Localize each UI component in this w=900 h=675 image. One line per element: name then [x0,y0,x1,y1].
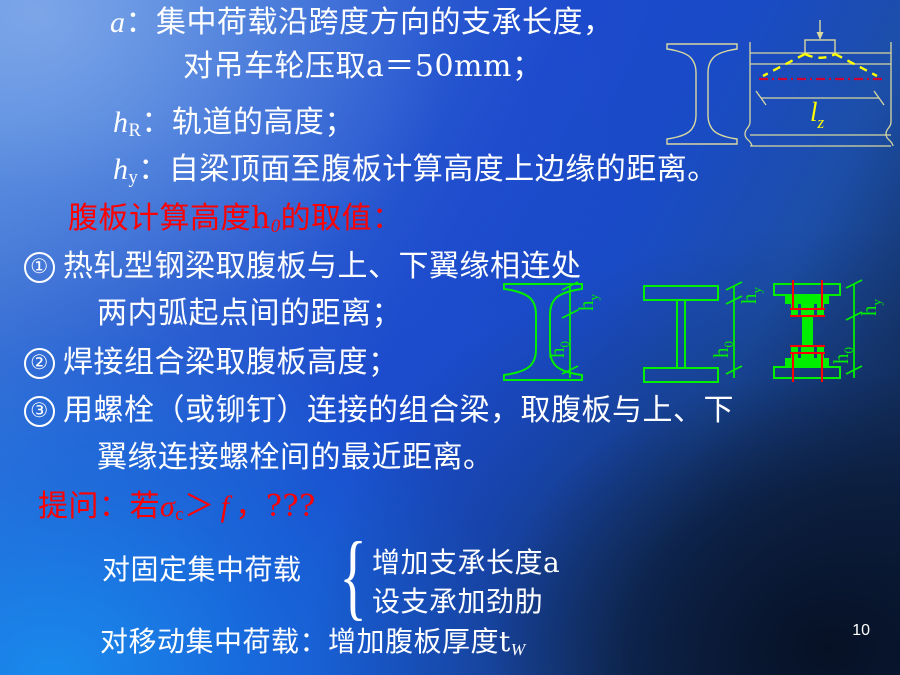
moving-load-label: 对移动集中荷载： [100,625,328,658]
welded-girder-profile-icon [644,286,718,382]
numbered-item-2-line-1: 焊接组合梁取腹板高度； [63,345,399,380]
question-strength: f [221,490,230,523]
fixed-load-option-2: 设支承加劲肋 [372,588,543,616]
section-heading-prefix: 腹板计算高度h [68,201,271,236]
symbol-h-2: h [113,153,129,186]
numbered-item-3-line-2-wrap: 翼缘连接螺栓间的最近距离。 [97,443,494,473]
symbol-h-subscript-y: y [129,167,139,188]
case3-h0-subscript: 0 [841,347,856,354]
circled-number-1-icon: ① [24,252,55,283]
numbered-item-3-line-1: 用螺栓（或铆钉）连接的组合梁，取腹板与上、下 [63,393,734,428]
definition-colon-a: ： [126,6,157,39]
symbol-a: a [110,6,126,39]
case3-h0-label: h0 [829,347,856,364]
circled-number-2-icon: ② [24,348,55,379]
definition-text-a: 集中荷载沿跨度方向的支承长度， [156,5,614,40]
case2-h0-main: h [709,347,733,358]
diagram-wheel-load-dispersion: lz [655,18,900,158]
slide-canvas: a：集中荷载沿跨度方向的支承长度， 对吊车轮压取a＝50mm； hR：轨道的高度… [0,0,900,675]
fixed-load-option-2-text: 设支承加劲肋 [372,585,543,618]
case1-hy-main: h [574,300,598,311]
section-heading-subscript: 0 [271,216,281,237]
case3-hy-subscript: y [869,299,884,306]
case1-hy-label: hy [574,294,601,312]
question-line: 提问：若σc＞f，??? [38,492,316,530]
moving-load-option-subscript: W [511,640,526,659]
load-arrow-icon [817,20,824,40]
question-tail: ，??? [235,489,315,524]
question-relation: ＞ [184,490,215,523]
moving-load-option-prefix: 增加腹板厚度t [328,625,511,658]
numbered-item-3: ③用螺栓（或铆钉）连接的组合梁，取腹板与上、下 [24,396,734,427]
case1-h0-subscript: 0 [557,341,572,348]
case3-hy-main: h [857,305,881,316]
question-sigma-subscript: c [175,504,184,525]
diagram-case1-rolled-section: h0 hy [498,278,638,386]
definition-colon-hr: ： [141,106,172,139]
question-sigma: σ [160,490,175,523]
case1-h0-main: h [545,347,569,358]
definition-line-hy: hy：自梁顶面至腹板计算高度上边缘的距离。 [113,155,718,193]
fixed-load-option-1: 增加支承长度a [372,549,560,577]
diagram-case2-welded-girder: h0 hy [636,278,766,386]
wheel-load-block-icon [805,40,835,53]
case3-h0-main: h [829,353,853,364]
fixed-load-label: 对固定集中荷载 [102,556,302,584]
case1-hy-subscript: y [586,294,601,301]
load-dispersion-lines-icon [763,54,877,76]
lz-dimension-line-icon [756,91,884,105]
fixed-load-option-1-text: 增加支承长度a [372,546,560,579]
numbered-item-2: ②焊接组合梁取腹板高度； [24,348,399,379]
definition-line-a: a：集中荷载沿跨度方向的支承长度， [110,8,614,38]
rolled-i-beam-profile-icon [667,44,737,144]
remedy-brace-icon: { [339,528,367,624]
definition-text-hr: 轨道的高度； [172,105,355,140]
symbol-h: h [113,106,129,139]
case2-h0-subscript: 0 [721,341,736,348]
fixed-load-label-text: 对固定集中荷载 [102,553,302,586]
section-heading-suffix: 的取值： [281,201,403,236]
case2-hy-label: hy [737,287,764,305]
symbol-h-subscript-r: R [129,120,142,141]
case1-dimension-lines-icon [562,282,578,378]
numbered-item-3-line-2: 翼缘连接螺栓间的最近距离。 [97,440,494,475]
case2-hy-subscript: y [749,287,764,294]
case2-hy-main: h [737,293,761,304]
numbered-item-1-line-2-wrap: 两内弧起点间的距离； [97,299,402,329]
diagram-case3-riveted-girder: h0 hy [766,278,900,386]
numbered-item-1-line-2: 两内弧起点间的距离； [97,296,402,331]
case3-hy-label: hy [857,299,884,317]
definition-line-hr: hR：轨道的高度； [113,108,355,146]
definition-text-wheel-load: 对吊车轮压取a＝50mm； [183,49,542,84]
definition-text-hy: 自梁顶面至腹板计算高度上边缘的距离。 [169,152,718,187]
question-label: 提问：若 [38,489,160,524]
definition-line-wheel-load: 对吊车轮压取a＝50mm； [183,52,542,82]
case2-h0-label: h0 [709,341,736,358]
section-heading-h0: 腹板计算高度h0的取值： [68,204,403,242]
circled-number-3-icon: ③ [24,396,55,427]
lz-dimension-label: lz [810,97,825,132]
page-number: 10 [852,622,870,640]
lz-label-main: l [810,97,818,127]
lz-label-subscript: z [817,113,825,132]
moving-load-line: 对移动集中荷载：增加腹板厚度tW [100,628,526,664]
definition-colon-hy: ： [138,153,169,186]
